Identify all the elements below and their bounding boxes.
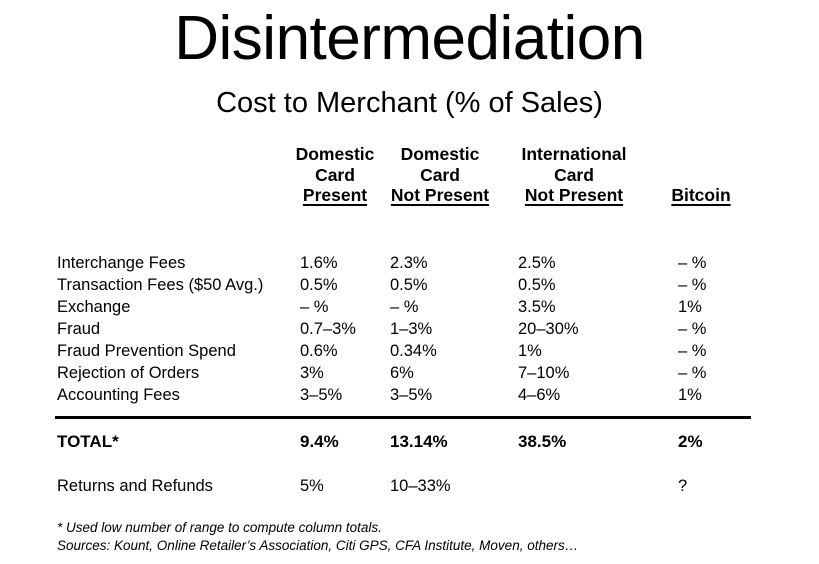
row-cell: – % (678, 319, 706, 340)
row-cell: 20–30% (518, 319, 579, 340)
row-cell: 4–6% (518, 385, 560, 406)
row-cell: – % (678, 275, 706, 296)
column-header-bitcoin: Bitcoin (641, 185, 761, 206)
row-cell: 0.5% (518, 275, 556, 296)
row-cell: 1.6% (300, 253, 338, 274)
row-cell: 3% (300, 363, 324, 384)
row-label: Transaction Fees ($50 Avg.) (57, 275, 263, 296)
row-cell: 0.6% (300, 341, 338, 362)
row-cell: 2.3% (390, 253, 428, 274)
row-label: Returns and Refunds (57, 476, 213, 497)
table-row-total: TOTAL* 9.4% 13.14% 38.5% 2% (0, 431, 819, 452)
row-cell: 1% (678, 385, 702, 406)
table-row: Exchange – % – % 3.5% 1% (0, 297, 819, 318)
row-cell: 2.5% (518, 253, 556, 274)
cost-comparison-table: Domestic Card Present Domestic Card Not … (0, 0, 819, 564)
row-cell: – % (678, 363, 706, 384)
row-cell: 10–33% (390, 476, 451, 497)
row-label: Accounting Fees (57, 385, 180, 406)
table-row: Accounting Fees 3–5% 3–5% 4–6% 1% (0, 385, 819, 406)
row-label: Interchange Fees (57, 253, 185, 274)
table-row: Interchange Fees 1.6% 2.3% 2.5% – % (0, 253, 819, 274)
row-cell: 3.5% (518, 297, 556, 318)
row-cell-total: 13.14% (390, 431, 448, 452)
row-label: Fraud Prevention Spend (57, 341, 236, 362)
table-row: Fraud Prevention Spend 0.6% 0.34% 1% – % (0, 341, 819, 362)
footnote-totals-note: * Used low number of range to compute co… (57, 519, 382, 537)
row-label: Rejection of Orders (57, 363, 199, 384)
column-header-line-3: Bitcoin (641, 185, 761, 206)
row-cell: 3–5% (300, 385, 342, 406)
row-cell: 5% (300, 476, 324, 497)
row-label-total: TOTAL* (57, 431, 119, 452)
footnote-sources: Sources: Kount, Online Retailer’s Associ… (57, 537, 578, 555)
row-cell: 0.5% (390, 275, 428, 296)
table-row: Rejection of Orders 3% 6% 7–10% – % (0, 363, 819, 384)
row-cell: – % (678, 253, 706, 274)
row-cell: 1–3% (390, 319, 432, 340)
table-row: Transaction Fees ($50 Avg.) 0.5% 0.5% 0.… (0, 275, 819, 296)
row-cell-total: 2% (678, 431, 703, 452)
row-label: Fraud (57, 319, 100, 340)
row-cell: ? (678, 476, 687, 497)
table-separator-rule (55, 416, 751, 419)
row-label: Exchange (57, 297, 130, 318)
slide-canvas: Disintermediation Cost to Merchant (% of… (0, 0, 819, 564)
row-cell: 6% (390, 363, 414, 384)
table-row: Fraud 0.7–3% 1–3% 20–30% – % (0, 319, 819, 340)
row-cell-total: 9.4% (300, 431, 339, 452)
row-cell: 1% (678, 297, 702, 318)
table-row-returns: Returns and Refunds 5% 10–33% ? (0, 476, 819, 497)
row-cell: 1% (518, 341, 542, 362)
row-cell-total: 38.5% (518, 431, 566, 452)
column-header-international-card-not-present: International Card Not Present (490, 144, 658, 206)
row-cell: – % (678, 341, 706, 362)
column-header-line-3: Not Present (490, 185, 658, 206)
row-cell: 0.5% (300, 275, 338, 296)
column-header-line-2: Card (490, 165, 658, 186)
column-header-line-1: International (490, 144, 658, 165)
row-cell: 3–5% (390, 385, 432, 406)
row-cell: – % (300, 297, 328, 318)
row-cell: – % (390, 297, 418, 318)
row-cell: 7–10% (518, 363, 569, 384)
row-cell: 0.7–3% (300, 319, 356, 340)
row-cell: 0.34% (390, 341, 437, 362)
